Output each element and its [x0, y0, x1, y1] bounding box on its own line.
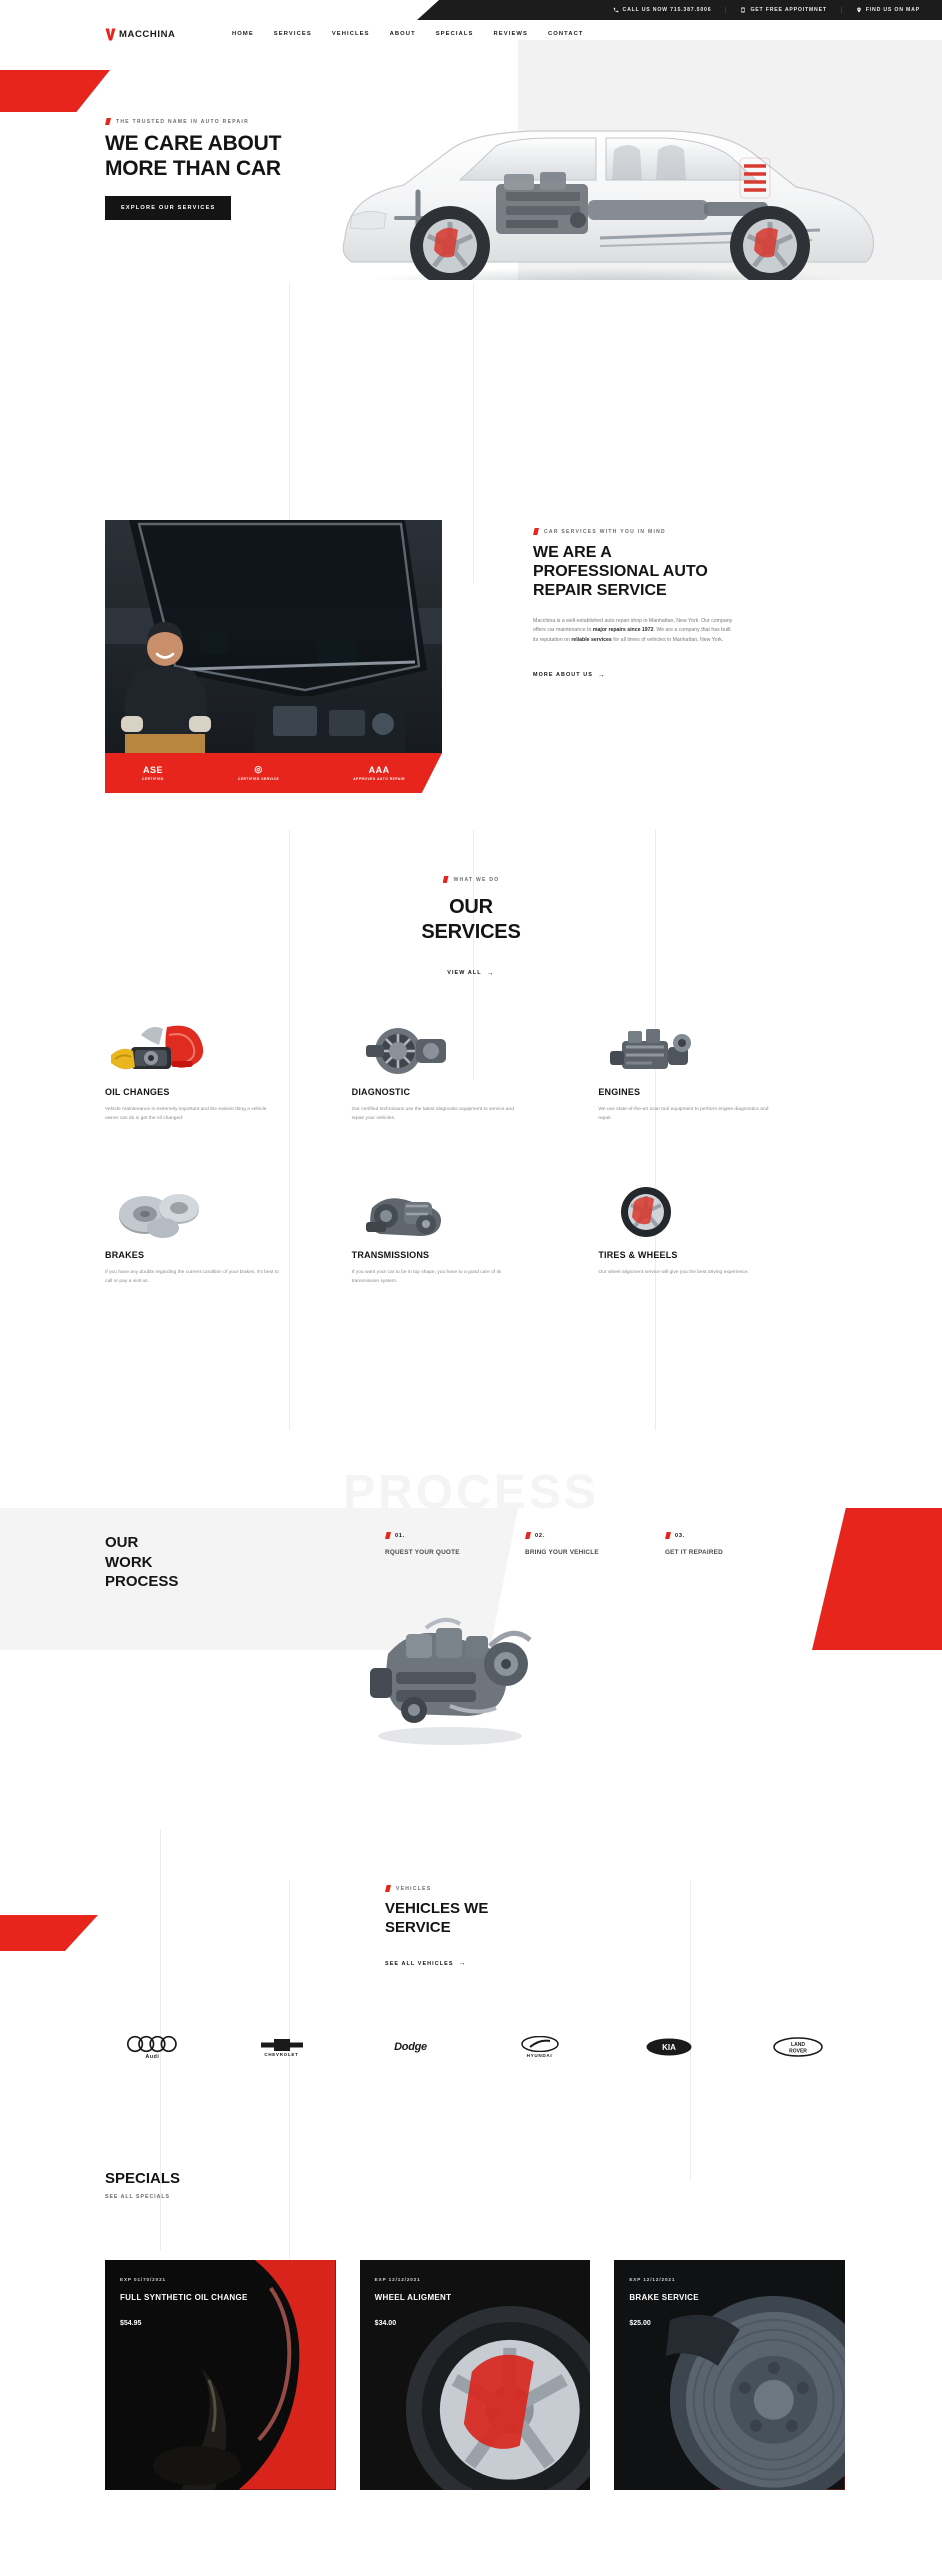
about-paragraph: Macchina is a well-established auto repa…	[533, 617, 733, 646]
badge-ase-label: CERTIFIED	[142, 777, 164, 781]
special-name: FULL SYNTHETIC OIL CHANGE	[120, 2292, 300, 2304]
step-number-wrap: 03.	[665, 1532, 805, 1539]
vehicles-title-line1: VEHICLES WE	[385, 1900, 705, 1919]
audi-logo	[125, 2035, 181, 2053]
dodge-logo: Dodge	[394, 2041, 427, 2053]
nav-item-contact[interactable]: CONTACT	[538, 31, 594, 37]
more-about-us-label: MORE ABOUT US	[533, 672, 593, 678]
see-all-vehicles-link[interactable]: SEE ALL VEHICLES →	[385, 1960, 467, 1967]
topbar-map-label: FIND US ON MAP	[866, 7, 920, 13]
topbar-appointment-label: GET FREE APPOITMNET	[750, 7, 826, 13]
nav-item-home[interactable]: HOME	[222, 31, 264, 37]
step-number: 02.	[535, 1533, 545, 1539]
hero-title: WE CARE ABOUT MORE THAN CAR	[105, 132, 435, 182]
topbar-item-call[interactable]: CALL US NOW 715.387.5006	[599, 7, 727, 13]
macchina-v-icon	[105, 28, 116, 41]
calendar-icon	[740, 7, 746, 13]
vehicles-eyebrow-text: VEHICLES	[396, 1886, 431, 1892]
process-step-1: 01. RQUEST YOUR QUOTE	[385, 1532, 525, 1558]
step-label: BRING YOUR VEHICLE	[525, 1548, 665, 1558]
process-red-shape	[812, 1508, 942, 1650]
vehicles-red-shape	[0, 1915, 98, 1951]
special-price: $54.95	[120, 2320, 300, 2327]
special-card-brake-service[interactable]: EXP 12/12/2021 BRAKE SERVICE $25.00 REDE…	[614, 2260, 845, 2490]
view-all-label: VIEW ALL	[447, 970, 481, 976]
service-desc: We use state-of-the-art scan tool equipm…	[598, 1105, 773, 1123]
about-para-strong1: major repairs since 1972	[593, 627, 654, 633]
brand-chevrolet[interactable]: CHEVROLET	[234, 2030, 329, 2064]
process-engine-image	[330, 1598, 570, 1748]
brand-kia[interactable]: KIA	[621, 2030, 716, 2064]
service-name: TIRES & WHEELS	[598, 1250, 813, 1260]
kia-logo: KIA	[645, 2037, 693, 2057]
special-name: BRAKE SERVICE	[629, 2292, 809, 2304]
about-title: WE ARE A PROFESSIONAL AUTO REPAIR SERVIC…	[533, 543, 733, 601]
process-title-line1: OUR	[105, 1533, 235, 1553]
process-step-2: 02. BRING YOUR VEHICLE	[525, 1532, 665, 1558]
see-all-vehicles-label: SEE ALL VEHICLES	[385, 1961, 454, 1967]
hero-eyebrow: THE TRUSTED NAME IN AUTO REPAIR	[105, 118, 435, 125]
service-name: ENGINES	[598, 1087, 813, 1097]
services-title-line1: OUR	[0, 895, 942, 920]
land-rover-logo: LAND ROVER	[772, 2036, 824, 2058]
special-price: $25.00	[629, 2320, 809, 2327]
special-card-wheel-alignment[interactable]: EXP 12/12/2021 WHEEL ALIGMENT $34.00	[360, 2260, 591, 2490]
special-expiry: EXP 01/70/2021	[120, 2277, 300, 2282]
badge-ase: ASE CERTIFIED	[142, 765, 164, 781]
brand-label: HYUNDAI	[527, 2053, 553, 2058]
certified-service-icon: ◎	[254, 764, 262, 775]
brand-dodge[interactable]: Dodge	[363, 2030, 458, 2064]
svg-text:ROVER: ROVER	[789, 2049, 807, 2055]
site-header: MACCHINA HOME SERVICES VEHICLES ABOUT SP…	[0, 20, 942, 48]
service-desc: If you have any doubts regarding the cur…	[105, 1268, 280, 1286]
more-about-us-link[interactable]: MORE ABOUT US →	[533, 672, 606, 679]
logo[interactable]: MACCHINA	[105, 28, 176, 41]
badge-certified-service: ◎ CERTIFIED SERVICE	[238, 764, 279, 781]
services-eyebrow: WHAT WE DO	[443, 876, 500, 883]
arrow-right-icon: →	[487, 970, 495, 977]
oil-filter-icon	[105, 1022, 320, 1077]
special-name: WHEEL ALIGMENT	[375, 2292, 555, 2304]
about-eyebrow: CAR SERVICES WITH YOU IN MIND	[533, 528, 733, 535]
logo-text: MACCHINA	[119, 29, 176, 40]
chevrolet-logo	[259, 2037, 305, 2051]
step-number-wrap: 01.	[385, 1532, 525, 1539]
hero-content: THE TRUSTED NAME IN AUTO REPAIR WE CARE …	[105, 118, 435, 220]
ase-logo-icon: ASE	[143, 765, 163, 775]
about-para-strong2: reliable services	[571, 637, 611, 643]
eyebrow-slash-icon	[385, 1885, 391, 1892]
guide-line-7	[289, 1880, 290, 2260]
process-title-line2: WORK	[105, 1553, 235, 1573]
badge-aaa-label: APPROVED AUTO REPAIR	[353, 777, 405, 781]
service-name: BRAKES	[105, 1250, 320, 1260]
certification-badge-bar: ASE CERTIFIED ◎ CERTIFIED SERVICE AAA AP…	[105, 753, 442, 793]
special-expiry: EXP 12/12/2021	[375, 2277, 555, 2282]
process-title-line3: PROCESS	[105, 1572, 235, 1592]
service-card-tires-wheels[interactable]: TIRES & WHEELS Our wheel alignment servi…	[598, 1185, 813, 1286]
vehicles-eyebrow: VEHICLES	[385, 1885, 705, 1892]
services-title: OUR SERVICES	[0, 895, 942, 945]
hyundai-logo	[520, 2036, 560, 2052]
process-step-3: 03. GET IT REPAIRED	[665, 1532, 805, 1558]
topbar-item-appointment[interactable]: GET FREE APPOITMNET	[726, 7, 841, 13]
step-label: GET IT REPAIRED	[665, 1548, 805, 1558]
vehicles-title: VEHICLES WE SERVICE	[385, 1900, 705, 1938]
nav-item-reviews[interactable]: REVIEWS	[484, 31, 538, 37]
nav-item-services[interactable]: SERVICES	[264, 31, 322, 37]
eyebrow-slash-icon	[533, 528, 539, 535]
services-title-line2: SERVICES	[0, 920, 942, 945]
explore-services-button[interactable]: EXPLORE OUR SERVICES	[105, 196, 231, 220]
special-card-oil-change[interactable]: EXP 01/70/2021 FULL SYNTHETIC OIL CHANGE…	[105, 2260, 336, 2490]
hero-title-line1: WE CARE ABOUT	[105, 132, 435, 157]
service-name: DIAGNOSTIC	[352, 1087, 567, 1097]
specials-grid: EXP 01/70/2021 FULL SYNTHETIC OIL CHANGE…	[105, 2260, 845, 2490]
special-card-body: EXP 12/12/2021 WHEEL ALIGMENT $34.00	[375, 2277, 555, 2327]
transmission-icon	[352, 1185, 567, 1240]
top-contact-bar: CALL US NOW 715.387.5006 GET FREE APPOIT…	[417, 0, 942, 20]
step-number-wrap: 02.	[525, 1532, 665, 1539]
about-section: ASE CERTIFIED ◎ CERTIFIED SERVICE AAA AP…	[0, 520, 942, 820]
nav-item-vehicles[interactable]: VEHICLES	[322, 31, 380, 37]
nav-item-about[interactable]: ABOUT	[380, 31, 426, 37]
service-card-diagnostic[interactable]: DIAGNOSTIC Our certified technicians use…	[352, 1022, 567, 1123]
process-title: OUR WORK PROCESS	[105, 1533, 235, 1592]
step-label: RQUEST YOUR QUOTE	[385, 1548, 525, 1558]
wheel-icon	[598, 1185, 813, 1240]
special-expiry: EXP 12/12/2021	[629, 2277, 809, 2282]
about-para-p3: for all times of vehicles in Manhattan, …	[612, 637, 724, 643]
vehicles-title-line2: SERVICE	[385, 1919, 705, 1938]
landing-page: CALL US NOW 715.387.5006 GET FREE APPOIT…	[0, 0, 942, 2560]
step-number: 03.	[675, 1533, 685, 1539]
brake-disc-icon	[105, 1185, 320, 1240]
badge-certified-label: CERTIFIED SERVICE	[238, 777, 279, 781]
services-section: WHAT WE DO OUR SERVICES VIEW ALL →	[0, 870, 942, 979]
brand-label: CHEVROLET	[264, 2052, 298, 2057]
specials-title: SPECIALS	[105, 2170, 180, 2187]
service-card-brakes[interactable]: BRAKES If you have any doubts regarding …	[105, 1185, 320, 1286]
svg-text:KIA: KIA	[662, 2043, 676, 2052]
service-desc: Our certified technicians use the latest…	[352, 1105, 527, 1123]
service-desc: Vehicle maintenance is extremely importa…	[105, 1105, 280, 1123]
eyebrow-slash-icon	[105, 118, 111, 125]
vehicles-header: VEHICLES VEHICLES WE SERVICE SEE ALL VEH…	[385, 1885, 705, 1970]
process-steps: 01. RQUEST YOUR QUOTE 02. BRING YOUR VEH…	[385, 1532, 805, 1558]
service-card-engines[interactable]: ENGINES We use state-of-the-art scan too…	[598, 1022, 813, 1123]
work-process-section: PROCESS OUR WORK PROCESS 01. RQUEST YOUR…	[0, 1480, 942, 1670]
main-navigation: HOME SERVICES VEHICLES ABOUT SPECIALS RE…	[222, 31, 594, 37]
see-all-specials-link[interactable]: SEE ALL SPECIALS	[105, 2194, 170, 2200]
aaa-logo-icon: AAA	[369, 765, 390, 775]
differential-icon	[352, 1022, 567, 1077]
arrow-right-icon: →	[459, 1960, 467, 1967]
phone-icon	[613, 7, 619, 13]
map-pin-icon	[856, 7, 862, 13]
about-mechanic-photo	[105, 520, 442, 753]
eyebrow-slash-icon	[443, 876, 449, 883]
engine-icon	[598, 1022, 813, 1077]
hero-eyebrow-text: THE TRUSTED NAME IN AUTO REPAIR	[116, 119, 249, 125]
brand-land-rover[interactable]: LAND ROVER	[750, 2030, 845, 2064]
services-header: WHAT WE DO OUR SERVICES VIEW ALL →	[0, 870, 942, 979]
services-eyebrow-text: WHAT WE DO	[454, 877, 500, 883]
vehicle-brand-logos: Audi CHEVROLET Dodge HYUNDAI	[105, 2030, 845, 2064]
service-desc: Our wheel alignment service will give yo…	[598, 1268, 773, 1277]
about-eyebrow-text: CAR SERVICES WITH YOU IN MIND	[544, 529, 666, 535]
service-name: OIL CHANGES	[105, 1087, 320, 1097]
topbar-call-label: CALL US NOW 715.387.5006	[623, 7, 712, 13]
services-grid: OIL CHANGES Vehicle maintenance is extre…	[105, 1022, 845, 1286]
arrow-right-icon: →	[598, 672, 606, 679]
eyebrow-slash-icon	[525, 1532, 531, 1539]
step-number: 01.	[395, 1533, 405, 1539]
service-card-transmissions[interactable]: TRANSMISSIONS If you want your car to be…	[352, 1185, 567, 1286]
about-text-block: CAR SERVICES WITH YOU IN MIND WE ARE A P…	[533, 528, 733, 681]
eyebrow-slash-icon	[665, 1532, 671, 1539]
topbar-item-map[interactable]: FIND US ON MAP	[842, 7, 924, 13]
service-card-oil-changes[interactable]: OIL CHANGES Vehicle maintenance is extre…	[105, 1022, 320, 1123]
special-card-body: EXP 12/12/2021 BRAKE SERVICE $25.00	[629, 2277, 809, 2327]
brand-audi[interactable]: Audi	[105, 2030, 200, 2064]
view-all-services-link[interactable]: VIEW ALL →	[447, 970, 494, 977]
nav-item-specials[interactable]: SPECIALS	[426, 31, 484, 37]
services-viewall-wrap: VIEW ALL →	[0, 961, 942, 979]
service-desc: If you want your car to be in top shape,…	[352, 1268, 527, 1286]
special-card-body: EXP 01/70/2021 FULL SYNTHETIC OIL CHANGE…	[120, 2277, 300, 2327]
eyebrow-slash-icon	[385, 1532, 391, 1539]
special-price: $34.00	[375, 2320, 555, 2327]
brand-hyundai[interactable]: HYUNDAI	[492, 2030, 587, 2064]
hero-section: THE TRUSTED NAME IN AUTO REPAIR WE CARE …	[0, 40, 942, 280]
badge-aaa: AAA APPROVED AUTO REPAIR	[353, 765, 405, 781]
hero-title-line2: MORE THAN CAR	[105, 157, 435, 182]
brand-label: Audi	[146, 2054, 160, 2060]
service-name: TRANSMISSIONS	[352, 1250, 567, 1260]
svg-text:LAND: LAND	[791, 2042, 805, 2048]
